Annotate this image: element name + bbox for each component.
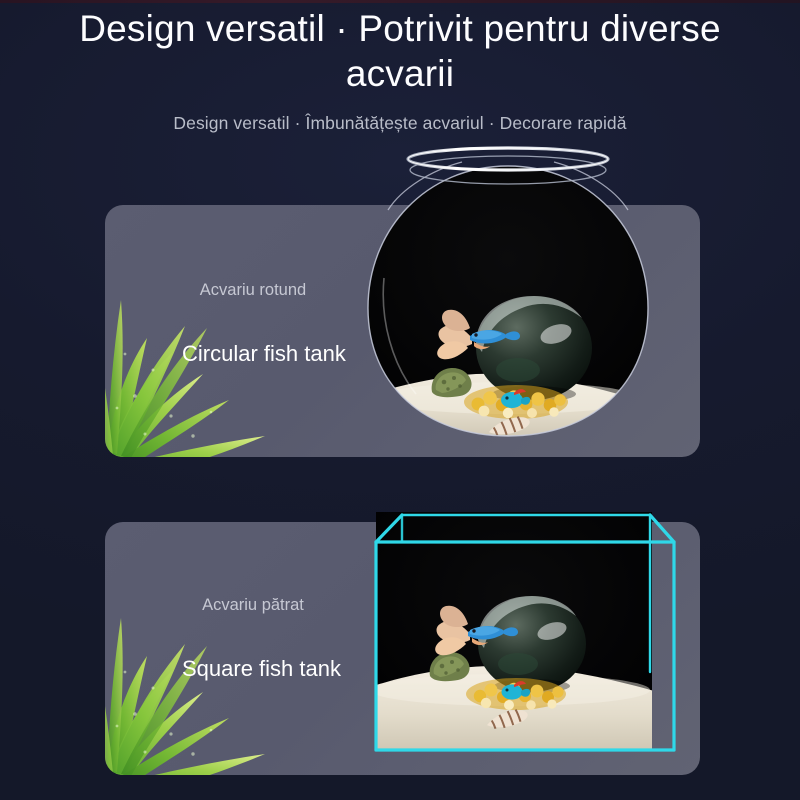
page-title: Design versatil · Potrivit pentru divers… xyxy=(0,6,800,96)
header: Design versatil · Potrivit pentru divers… xyxy=(0,0,800,134)
product-banner: Design versatil · Potrivit pentru divers… xyxy=(0,0,800,800)
label-en-square: Square fish tank xyxy=(182,656,341,682)
label-group-round: Acvariu rotund xyxy=(178,280,328,301)
square-fish-tank-image xyxy=(360,472,690,772)
label-ro-square: Acvariu pătrat xyxy=(178,595,328,616)
label-en-round: Circular fish tank xyxy=(182,341,346,367)
circular-fish-tank-image xyxy=(358,148,658,440)
label-ro-round: Acvariu rotund xyxy=(178,280,328,301)
label-group-square: Acvariu pătrat xyxy=(178,595,328,616)
page-subtitle: Design versatil · Îmbunătățește acvariul… xyxy=(0,112,800,134)
